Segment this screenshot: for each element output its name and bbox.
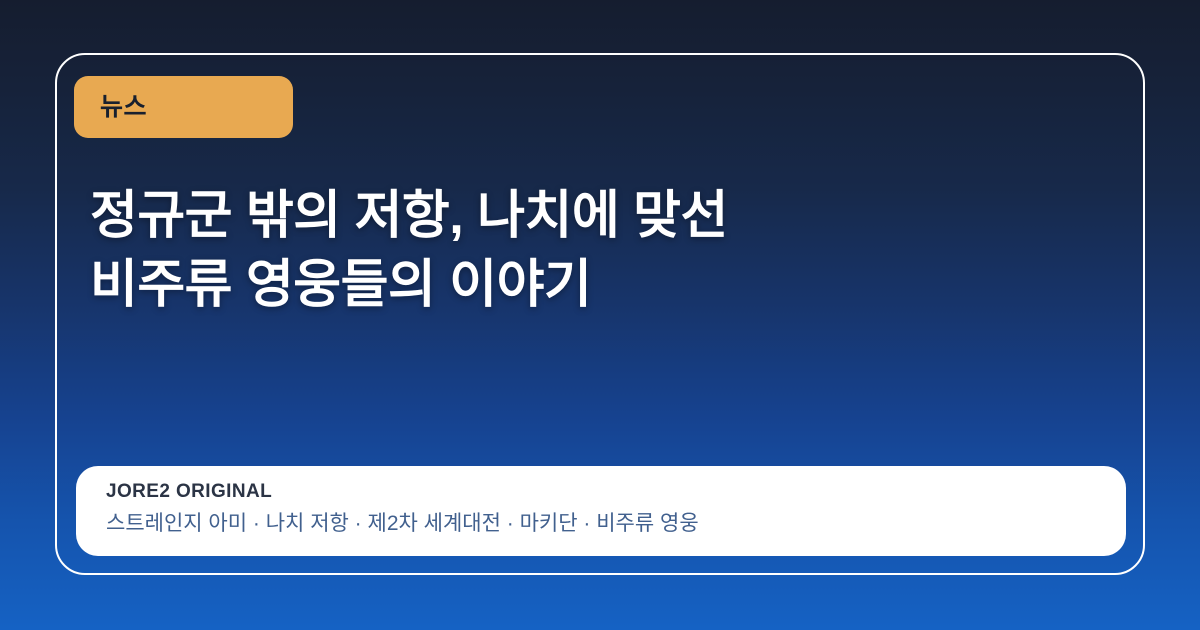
category-badge-label: 뉴스: [100, 95, 147, 120]
headline-line-2: 비주류 영웅들의 이야기: [90, 251, 1050, 320]
footer-brand-label: JORE2 ORIGINAL: [106, 480, 1096, 504]
footer-tags-label: 스트레인지 아미 · 나치 저항 · 제2차 세계대전 · 마키단 · 비주류 …: [106, 510, 1096, 537]
news-card-canvas: 뉴스 정규군 밖의 저항, 나치에 맞선 비주류 영웅들의 이야기 JORE2 …: [0, 0, 1200, 630]
headline: 정규군 밖의 저항, 나치에 맞선 비주류 영웅들의 이야기: [90, 182, 1050, 319]
footer-panel: JORE2 ORIGINAL 스트레인지 아미 · 나치 저항 · 제2차 세계…: [76, 466, 1126, 556]
category-badge[interactable]: 뉴스: [74, 76, 293, 138]
headline-line-1: 정규군 밖의 저항, 나치에 맞선: [90, 182, 1050, 251]
